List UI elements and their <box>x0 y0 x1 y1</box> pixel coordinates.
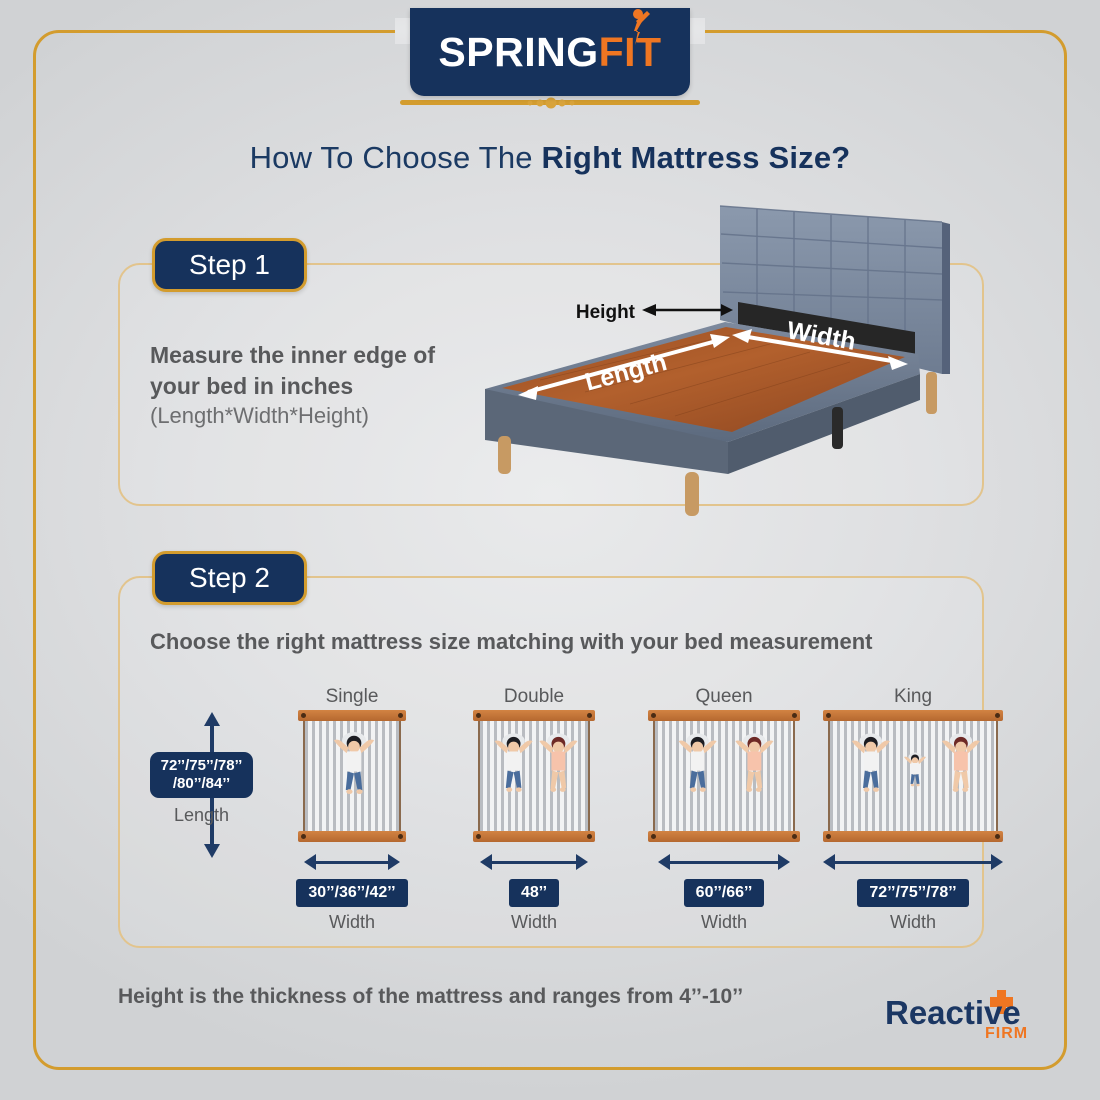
mattress-width-caption: Width <box>272 912 432 933</box>
bed-illustration: Length Width Height <box>480 192 990 540</box>
step-2-heading: Choose the right mattress size matching … <box>150 626 890 657</box>
jumping-person-icon <box>623 7 651 47</box>
footer-note: Height is the thickness of the mattress … <box>118 985 743 1009</box>
length-caption: Length <box>150 805 253 826</box>
mattress-size-grid: Single 30’’/36’’/42’’WidthDouble <box>272 686 972 936</box>
length-value-line1: 72’’/75’’/78’’ <box>154 757 249 775</box>
page-title-prefix: How To Choose The <box>250 140 542 175</box>
width-double-arrow-icon <box>658 853 790 871</box>
length-value-badge: 72’’/75’’/78’’ /80’’/84’’ <box>150 752 253 798</box>
bed-height-label: Height <box>576 302 636 323</box>
mattress-name-label: King <box>797 686 1029 708</box>
mattress-column-king: King <box>797 686 1029 933</box>
mattress-graphic <box>653 721 795 831</box>
mattress-width-badge: 60’’/66’’ <box>684 879 765 907</box>
width-double-arrow-icon <box>480 853 588 871</box>
mattress-occupants <box>830 721 1000 831</box>
mattress-name-label: Double <box>447 686 621 708</box>
reactive-firm-logo: Reactive FIRM <box>885 988 1045 1040</box>
mattress-occupants <box>655 721 797 831</box>
step-1-subtext: (Length*Width*Height) <box>150 403 480 429</box>
mattress-graphic <box>303 721 401 831</box>
brand-logo-banner: SPRINGFIT <box>410 8 690 96</box>
mattress-width-caption: Width <box>447 912 621 933</box>
mattress-width-caption: Width <box>797 912 1029 933</box>
logo-underline-ornament <box>400 96 700 110</box>
mattress-width-badge: 72’’/75’’/78’’ <box>857 879 968 907</box>
mattress-column-queen: Queen 60’’/66’’Width <box>622 686 826 933</box>
mattress-name-label: Queen <box>622 686 826 708</box>
mattress-name-label: Single <box>272 686 432 708</box>
step-1-badge: Step 1 <box>152 238 307 292</box>
mattress-column-single: Single 30’’/36’’/42’’Width <box>272 686 432 933</box>
brand-logo-primary: SPRING <box>438 29 598 76</box>
mattress-graphic <box>478 721 590 831</box>
mattress-graphic <box>828 721 998 831</box>
width-double-arrow-icon <box>823 853 1003 871</box>
step-1-heading: Measure the inner edge of your bed in in… <box>150 340 480 401</box>
width-double-arrow-icon <box>304 853 400 871</box>
firm-wordmark: FIRM <box>985 1025 1028 1040</box>
step-1-text: Measure the inner edge of your bed in in… <box>150 340 480 429</box>
mattress-column-double: Double 48’’Width <box>447 686 621 933</box>
page-title: How To Choose The Right Mattress Size? <box>0 140 1100 176</box>
mattress-occupants <box>480 721 592 831</box>
page-title-emphasis: Right Mattress Size? <box>542 140 851 175</box>
mattress-width-badge: 30’’/36’’/42’’ <box>296 879 407 907</box>
brand-logo-text: SPRINGFIT <box>438 29 661 76</box>
length-value-line2: /80’’/84’’ <box>154 775 249 793</box>
mattress-width-caption: Width <box>622 912 826 933</box>
mattress-width-badge: 48’’ <box>509 879 559 907</box>
mattress-occupants <box>305 721 403 831</box>
step-2-badge: Step 2 <box>152 551 307 605</box>
infographic-page: SPRINGFIT How To Choose The Right Mattre… <box>0 0 1100 1100</box>
